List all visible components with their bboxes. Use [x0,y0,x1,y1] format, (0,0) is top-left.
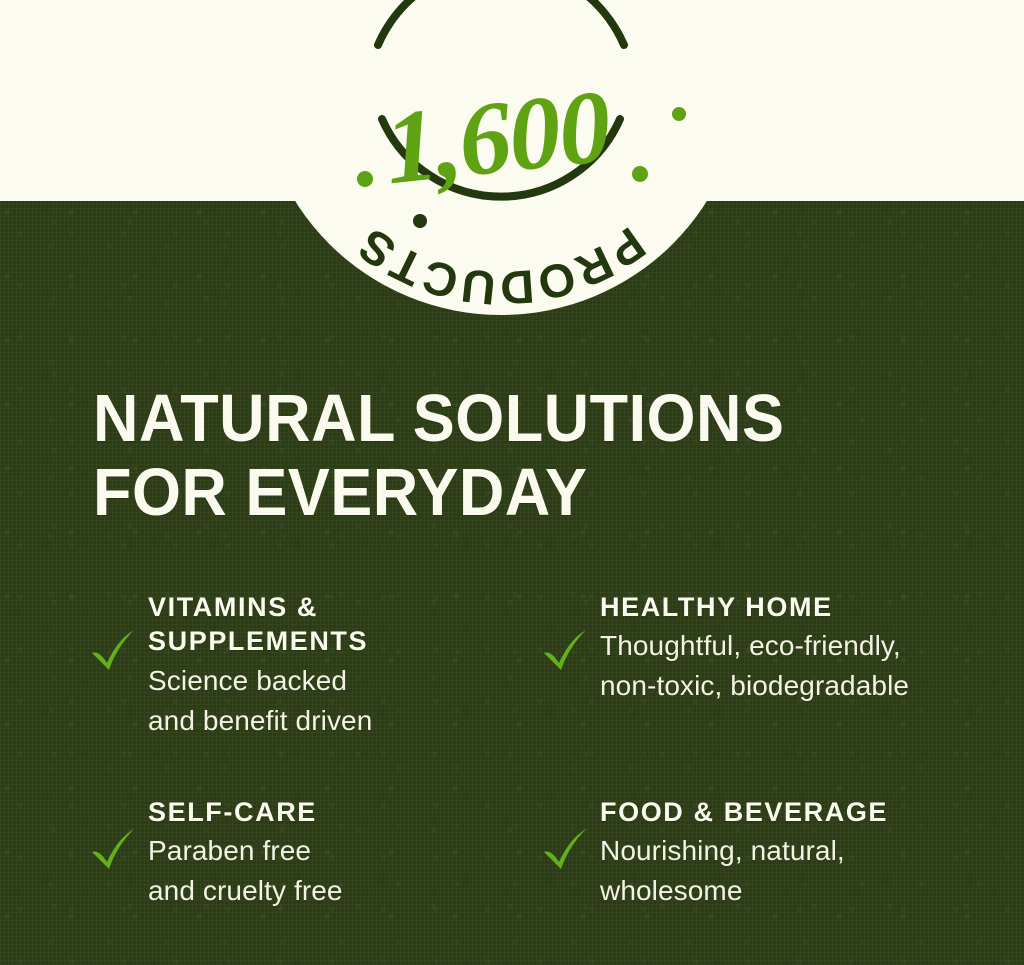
headline-line-1: NATURAL SOLUTIONS [93,382,920,456]
page-title: NATURAL SOLUTIONS FOR EVERYDAY [93,382,920,529]
feature-list: VITAMINS & SUPPLEMENTS Science backed an… [88,588,988,911]
checkmark-icon [88,626,138,676]
feature-title: VITAMINS & SUPPLEMENTS [148,590,372,659]
checkmark-icon [88,825,138,875]
feature-description: Science backed and benefit driven [148,661,372,741]
feature-text-block: VITAMINS & SUPPLEMENTS Science backed an… [148,588,372,741]
feature-text-block: HEALTHY HOME Thoughtful, eco-friendly, n… [600,588,909,706]
feature-title: HEALTHY HOME [600,590,909,624]
feature-desc-line: non-toxic, biodegradable [600,666,909,706]
headline-line-2: FOR EVERYDAY [93,456,920,530]
feature-description: Nourishing, natural, wholesome [600,831,888,911]
feature-title-line: VITAMINS & [148,590,372,624]
feature-title-line: SELF-CARE [148,795,343,829]
checkmark-icon [540,825,590,875]
feature-title: FOOD & BEVERAGE [600,795,888,829]
feature-desc-line: Nourishing, natural, [600,831,888,871]
badge-product-count: 1,600 [380,75,614,202]
feature-desc-line: Science backed [148,661,372,701]
feature-desc-line: and benefit driven [148,701,372,741]
promotional-banner: OFFERING OVER PRODUCTS 1,600 NATURAL SOL… [0,0,1024,965]
feature-desc-line: and cruelty free [148,871,343,911]
feature-text-block: SELF-CARE Paraben free and cruelty free [148,793,343,911]
badge-count-wrapper: 1,600 [258,0,744,315]
feature-title-line: FOOD & BEVERAGE [600,795,888,829]
feature-description: Paraben free and cruelty free [148,831,343,911]
feature-desc-line: wholesome [600,871,888,911]
feature-item-vitamins-supplements: VITAMINS & SUPPLEMENTS Science backed an… [88,588,540,793]
checkmark-icon [540,626,590,676]
feature-desc-line: Thoughtful, eco-friendly, [600,626,909,666]
feature-item-food-beverage: FOOD & BEVERAGE Nourishing, natural, who… [540,793,988,911]
feature-description: Thoughtful, eco-friendly, non-toxic, bio… [600,626,909,706]
feature-title-line: SUPPLEMENTS [148,624,372,658]
feature-text-block: FOOD & BEVERAGE Nourishing, natural, who… [600,793,888,911]
feature-title-line: HEALTHY HOME [600,590,909,624]
feature-item-self-care: SELF-CARE Paraben free and cruelty free [88,793,540,911]
feature-item-healthy-home: HEALTHY HOME Thoughtful, eco-friendly, n… [540,588,988,793]
feature-title: SELF-CARE [148,795,343,829]
feature-desc-line: Paraben free [148,831,343,871]
